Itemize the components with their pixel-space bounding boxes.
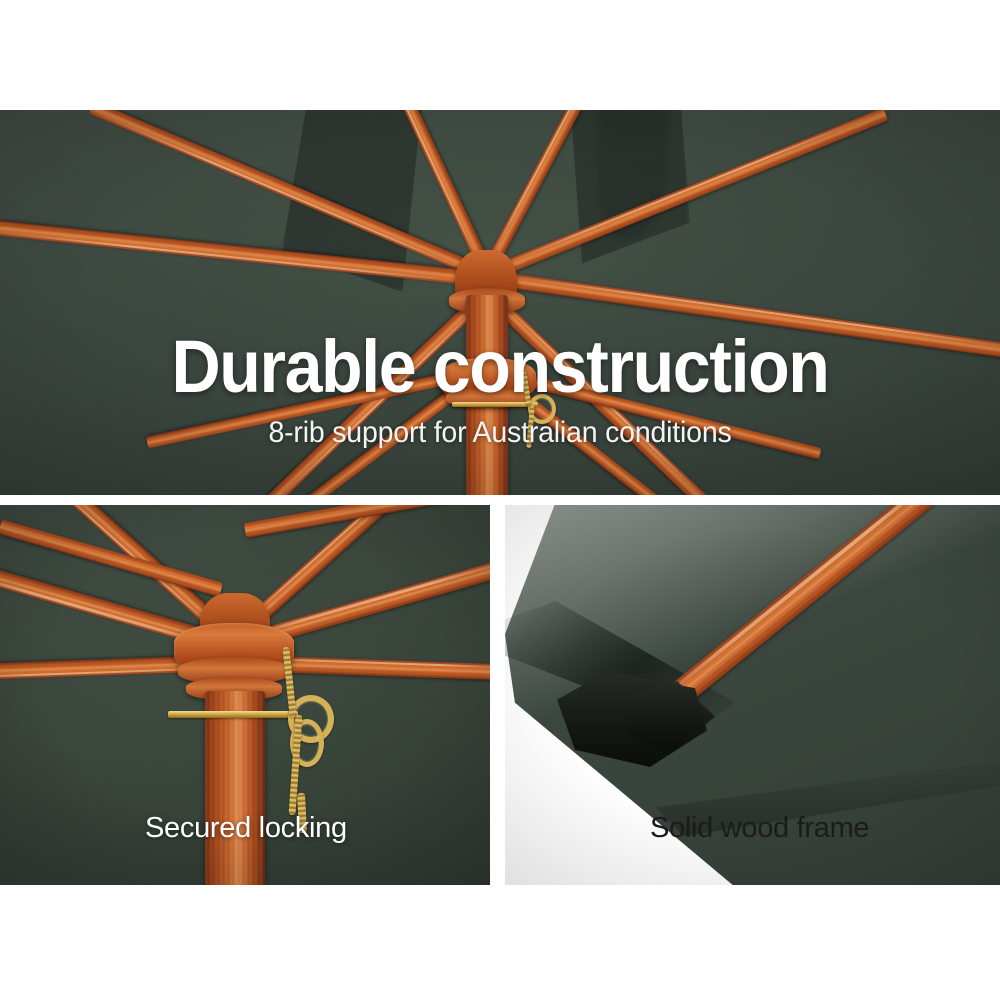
lock-pin-shaft xyxy=(168,711,298,718)
lock-centre-pole xyxy=(205,691,265,885)
product-feature-image: Durable construction 8-rib support for A… xyxy=(0,0,1000,1000)
caption-solid-wood-frame: Solid wood frame xyxy=(650,812,869,845)
caption-secured-locking: Secured locking xyxy=(145,812,347,845)
hero-panel xyxy=(0,110,1000,495)
